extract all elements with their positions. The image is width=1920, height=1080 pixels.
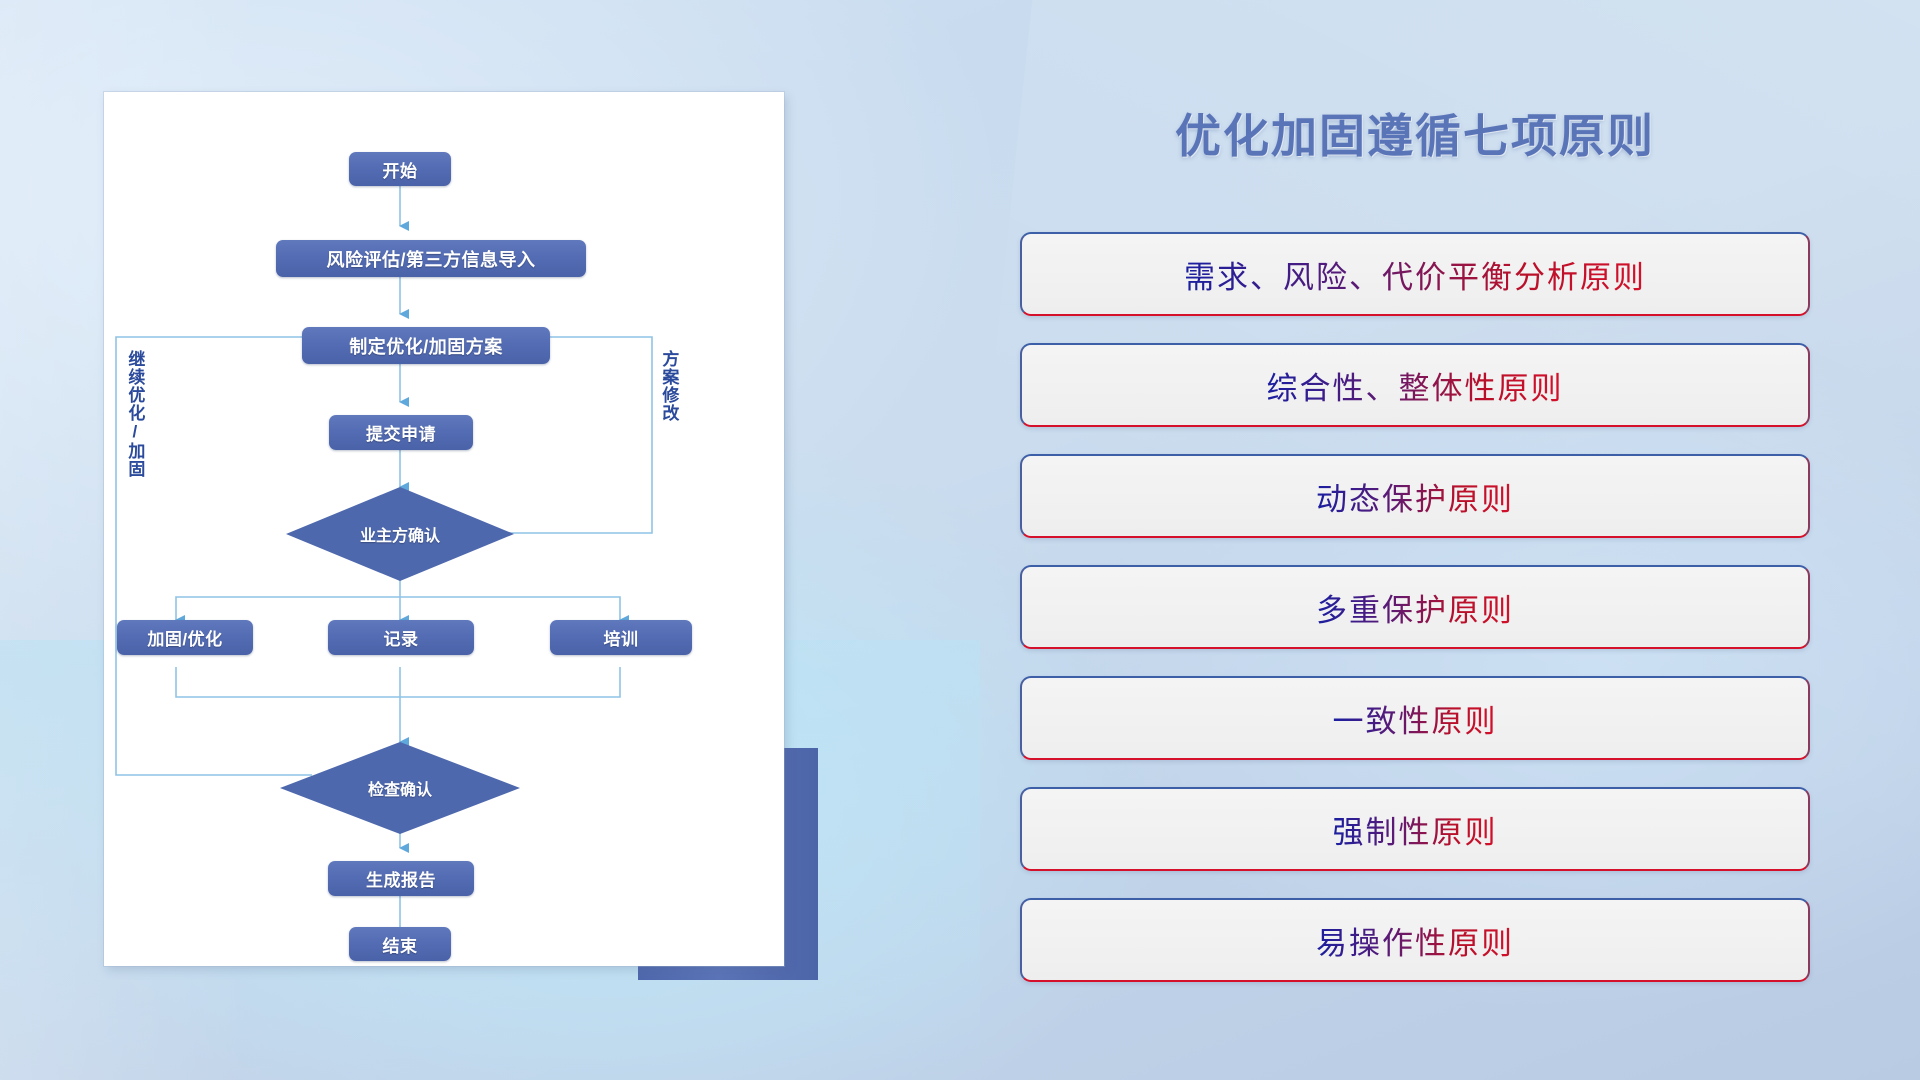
flow-node-label: 加固/优化 [147, 625, 222, 650]
principle-label: 易操作性原则 [1316, 918, 1514, 963]
principle-label: 一致性原则 [1333, 696, 1498, 741]
principle-card[interactable]: 一致性原则 [1020, 676, 1810, 760]
flow-decision-inspection-confirm[interactable]: 检查确认 [280, 742, 520, 834]
principle-label: 多重保护原则 [1316, 585, 1514, 630]
page-title: 优化加固遵循七项原则 [1010, 100, 1820, 166]
principle-label: 强制性原则 [1333, 807, 1498, 852]
flow-node-reinforce-optimize[interactable]: 加固/优化 [117, 620, 253, 655]
flow-node-label: 风险评估/第三方信息导入 [327, 246, 536, 272]
flow-node-start[interactable]: 开始 [349, 152, 451, 186]
flowchart-panel: 开始 风险评估/第三方信息导入 制定优化/加固方案 提交申请 业主方确认 加固/… [104, 92, 784, 966]
principle-card[interactable]: 强制性原则 [1020, 787, 1810, 871]
principle-card[interactable]: 多重保护原则 [1020, 565, 1810, 649]
flow-node-end[interactable]: 结束 [349, 927, 451, 961]
flow-node-label: 业主方确认 [360, 522, 440, 546]
flow-node-label: 生成报告 [366, 866, 436, 891]
principle-card[interactable]: 需求、风险、代价平衡分析原则 [1020, 232, 1810, 316]
principle-card[interactable]: 易操作性原则 [1020, 898, 1810, 982]
flow-decision-owner-confirm[interactable]: 业主方确认 [286, 487, 514, 581]
flow-node-label: 制定优化/加固方案 [349, 333, 503, 359]
flow-node-record[interactable]: 记录 [328, 620, 474, 655]
flow-node-generate-report[interactable]: 生成报告 [328, 861, 474, 896]
principle-card[interactable]: 综合性、整体性原则 [1020, 343, 1810, 427]
flow-node-label: 开始 [383, 157, 418, 182]
principle-label: 动态保护原则 [1316, 474, 1514, 519]
flow-node-label: 检查确认 [368, 776, 432, 800]
principle-card[interactable]: 动态保护原则 [1020, 454, 1810, 538]
flow-node-label: 记录 [384, 625, 419, 650]
flow-node-plan[interactable]: 制定优化/加固方案 [302, 327, 550, 364]
flow-node-label: 培训 [604, 625, 639, 650]
principles-pane: 优化加固遵循七项原则 需求、风险、代价平衡分析原则 综合性、整体性原则 动态保护… [1010, 92, 1820, 1022]
flow-node-submit-application[interactable]: 提交申请 [329, 415, 473, 450]
principle-label: 综合性、整体性原则 [1267, 363, 1564, 408]
flow-node-risk-assessment[interactable]: 风险评估/第三方信息导入 [276, 240, 586, 277]
slide-canvas: 开始 风险评估/第三方信息导入 制定优化/加固方案 提交申请 业主方确认 加固/… [0, 0, 1920, 1080]
flow-node-label: 结束 [383, 932, 418, 957]
principles-list: 需求、风险、代价平衡分析原则 综合性、整体性原则 动态保护原则 多重保护原则 一… [1020, 232, 1810, 1009]
flow-edge-label-plan-revision: 方案修改 [660, 350, 677, 422]
principle-label: 需求、风险、代价平衡分析原则 [1184, 252, 1646, 297]
flow-edge-label-continue-optimize: 继续优化/加固 [126, 350, 143, 478]
flow-node-label: 提交申请 [366, 420, 436, 445]
flow-node-training[interactable]: 培训 [550, 620, 692, 655]
